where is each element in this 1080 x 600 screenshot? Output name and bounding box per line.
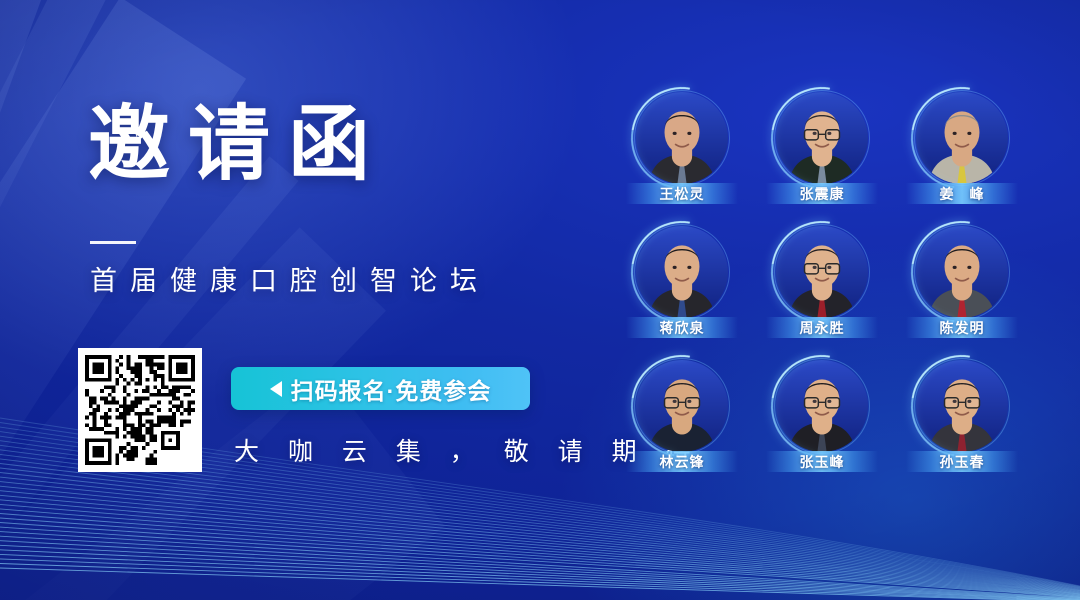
speaker-card[interactable]: 王松灵	[612, 92, 752, 204]
speaker-name: 王松灵	[660, 184, 705, 204]
avatar-ring	[776, 92, 868, 184]
qr-code[interactable]	[78, 348, 202, 472]
speaker-card[interactable]: 张震康	[752, 92, 892, 204]
speaker-card[interactable]: 陈发明	[892, 226, 1032, 338]
speaker-card[interactable]: 姜 峰	[892, 92, 1032, 204]
speaker-nameplate: 陈发明	[906, 317, 1018, 338]
speaker-nameplate: 姜 峰	[906, 183, 1018, 204]
speaker-card[interactable]: 张玉峰	[752, 360, 892, 472]
speaker-name: 蒋欣泉	[660, 318, 705, 338]
triangle-left-icon	[270, 381, 282, 397]
speaker-name: 张玉峰	[800, 452, 845, 472]
register-button[interactable]: 扫码报名·免费参会	[231, 367, 530, 410]
speaker-name: 张震康	[800, 184, 845, 204]
page-title: 邀请函	[88, 104, 388, 186]
speaker-name: 孙玉春	[940, 452, 985, 472]
speaker-name: 林云锋	[660, 452, 705, 472]
avatar-ring	[636, 226, 728, 318]
speaker-card[interactable]: 林云锋	[612, 360, 752, 472]
avatar-ring	[636, 360, 728, 452]
title-divider	[90, 241, 136, 244]
avatar-ring	[776, 360, 868, 452]
speaker-nameplate: 林云锋	[626, 451, 738, 472]
speaker-name: 陈发明	[940, 318, 985, 338]
speaker-card[interactable]: 周永胜	[752, 226, 892, 338]
speaker-nameplate: 张玉峰	[766, 451, 878, 472]
invitation-poster: 邀请函 首届健康口腔创智论坛 扫码报名·免费参会 大 咖 云 集 ， 敬 请 期…	[0, 0, 1080, 600]
speaker-card[interactable]: 蒋欣泉	[612, 226, 752, 338]
speaker-nameplate: 蒋欣泉	[626, 317, 738, 338]
speaker-card[interactable]: 孙玉春	[892, 360, 1032, 472]
left-content-column: 邀请函 首届健康口腔创智论坛 扫码报名·免费参会 大 咖 云 集 ， 敬 请 期…	[88, 0, 588, 600]
avatar-ring	[916, 360, 1008, 452]
speaker-nameplate: 张震康	[766, 183, 878, 204]
speaker-nameplate: 孙玉春	[906, 451, 1018, 472]
register-button-label: 扫码报名·免费参会	[291, 372, 492, 406]
avatar-ring	[916, 226, 1008, 318]
speaker-name: 姜 峰	[940, 184, 985, 204]
avatar-ring	[776, 226, 868, 318]
avatar-ring	[636, 92, 728, 184]
speaker-nameplate: 周永胜	[766, 317, 878, 338]
speaker-grid: 王松灵张震康姜 峰蒋欣泉周永胜陈发明林云锋张玉峰孙玉春	[612, 92, 1032, 472]
avatar-ring	[916, 92, 1008, 184]
speaker-nameplate: 王松灵	[626, 183, 738, 204]
speaker-name: 周永胜	[800, 318, 845, 338]
page-subtitle: 首届健康口腔创智论坛	[90, 268, 490, 295]
